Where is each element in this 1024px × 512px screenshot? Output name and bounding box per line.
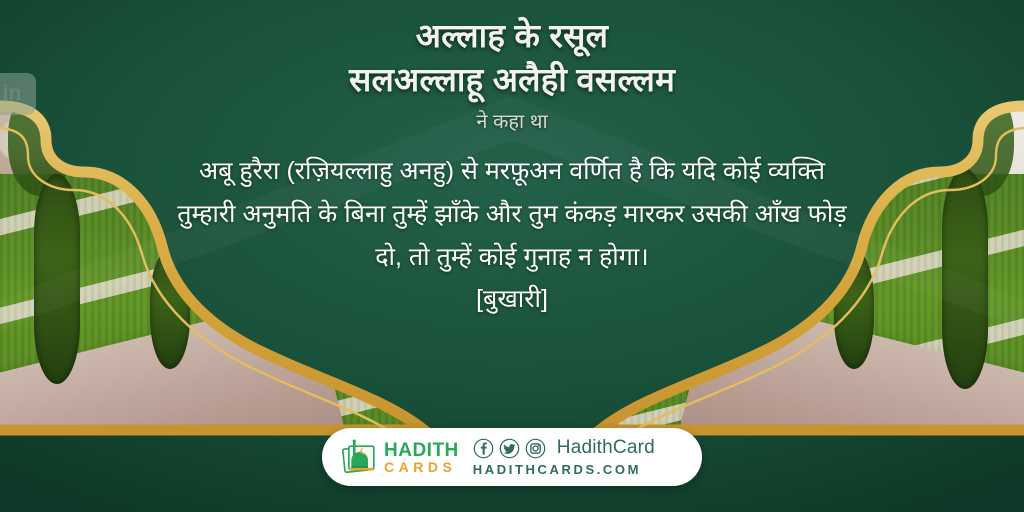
facebook-icon[interactable] (473, 438, 494, 459)
linkedin-in-badge[interactable]: in (0, 73, 36, 115)
title-block: अल्लाह के रसूल सलअल्लाहू अलैही वसल्लम (152, 14, 872, 101)
title-line-2: सलअल्लाहू अलैही वसल्लम (152, 58, 872, 102)
logo-wordmark: HADITH CARDS (384, 441, 459, 474)
instagram-icon[interactable] (525, 438, 546, 459)
mosque-card-logo-icon (338, 437, 378, 477)
title-line-1: अल्लाह के रसूल (152, 14, 872, 58)
said-label: ने कहा था (476, 107, 547, 134)
website-url[interactable]: HADITHCARDS.COM (473, 462, 655, 477)
brand-name: HadithCard (557, 437, 655, 459)
social-and-site: HadithCard HADITHCARDS.COM (473, 437, 655, 477)
logo-lockup[interactable]: HADITH CARDS (338, 437, 459, 477)
social-icon-row[interactable]: HadithCard (473, 437, 655, 459)
hadith-card: अल्लाह के रसूल सलअल्लाहू अलैही वसल्लम ने… (0, 0, 1024, 512)
twitter-icon[interactable] (499, 438, 520, 459)
footer-branding-bar[interactable]: HADITH CARDS Hadi (322, 428, 702, 486)
hadith-source: [बुखारी] (476, 281, 548, 315)
hadith-body-text: अबू हुरैरा (रज़ियल्लाहु अनहु) से मरफ़ूअन… (167, 150, 857, 279)
logo-word-cards: CARDS (384, 460, 459, 474)
logo-word-hadith: HADITH (384, 441, 459, 460)
linkedin-in-label: in (3, 82, 22, 106)
